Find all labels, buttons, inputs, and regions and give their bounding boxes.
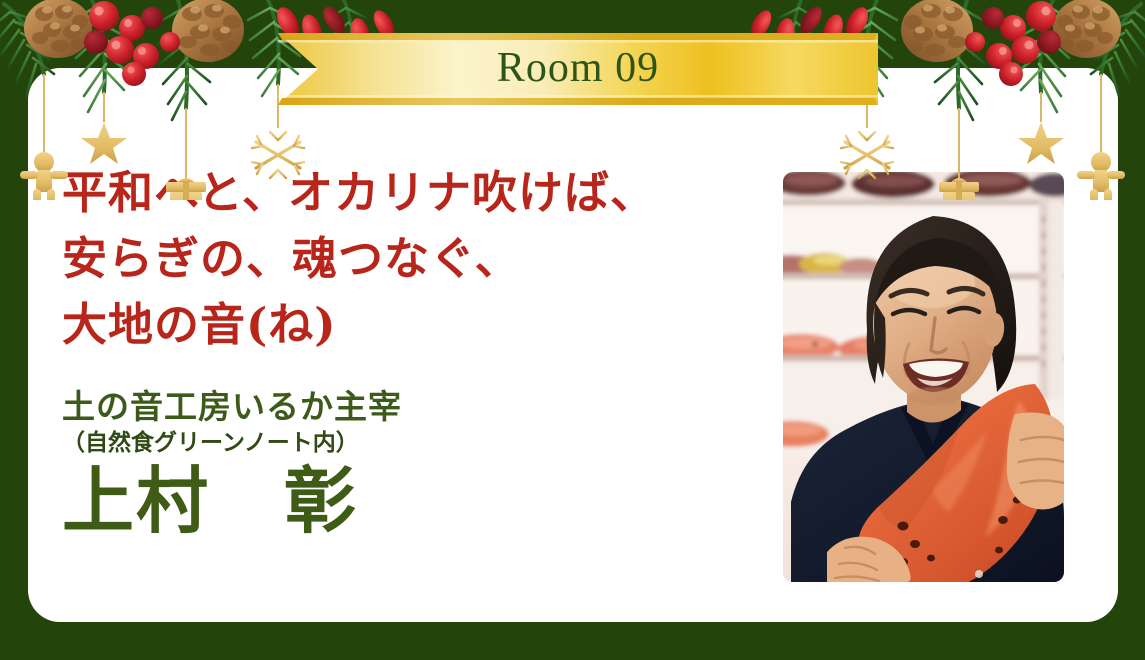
poem-line-1: 平和へと、オカリナ吹けば、 bbox=[62, 160, 772, 226]
room-banner-label: Room 09 bbox=[278, 33, 878, 105]
speaker-photo-image bbox=[783, 172, 1064, 582]
pinecone-icon bbox=[172, 0, 244, 62]
room-banner: Room 09 bbox=[278, 33, 878, 105]
slide-root: 平和へと、オカリナ吹けば、 安らぎの、魂つなぐ、 大地の音(ね) 土の音工房いる… bbox=[0, 0, 1145, 660]
poem-line-3: 大地の音(ね) bbox=[62, 292, 772, 358]
pinecone-icon bbox=[24, 0, 92, 58]
pinecone-icon bbox=[1053, 0, 1121, 58]
poem-line-2: 安らぎの、魂つなぐ、 bbox=[62, 226, 772, 292]
pinecone-icon bbox=[901, 0, 973, 62]
affiliation-title: 土の音工房いるか主宰 bbox=[62, 388, 772, 426]
affiliation-note: （自然食グリーンノート内） bbox=[62, 430, 772, 456]
speaker-name: 上村 彰 bbox=[62, 463, 772, 539]
text-column: 平和へと、オカリナ吹けば、 安らぎの、魂つなぐ、 大地の音(ね) 土の音工房いる… bbox=[62, 160, 772, 538]
speaker-photo bbox=[783, 172, 1064, 582]
